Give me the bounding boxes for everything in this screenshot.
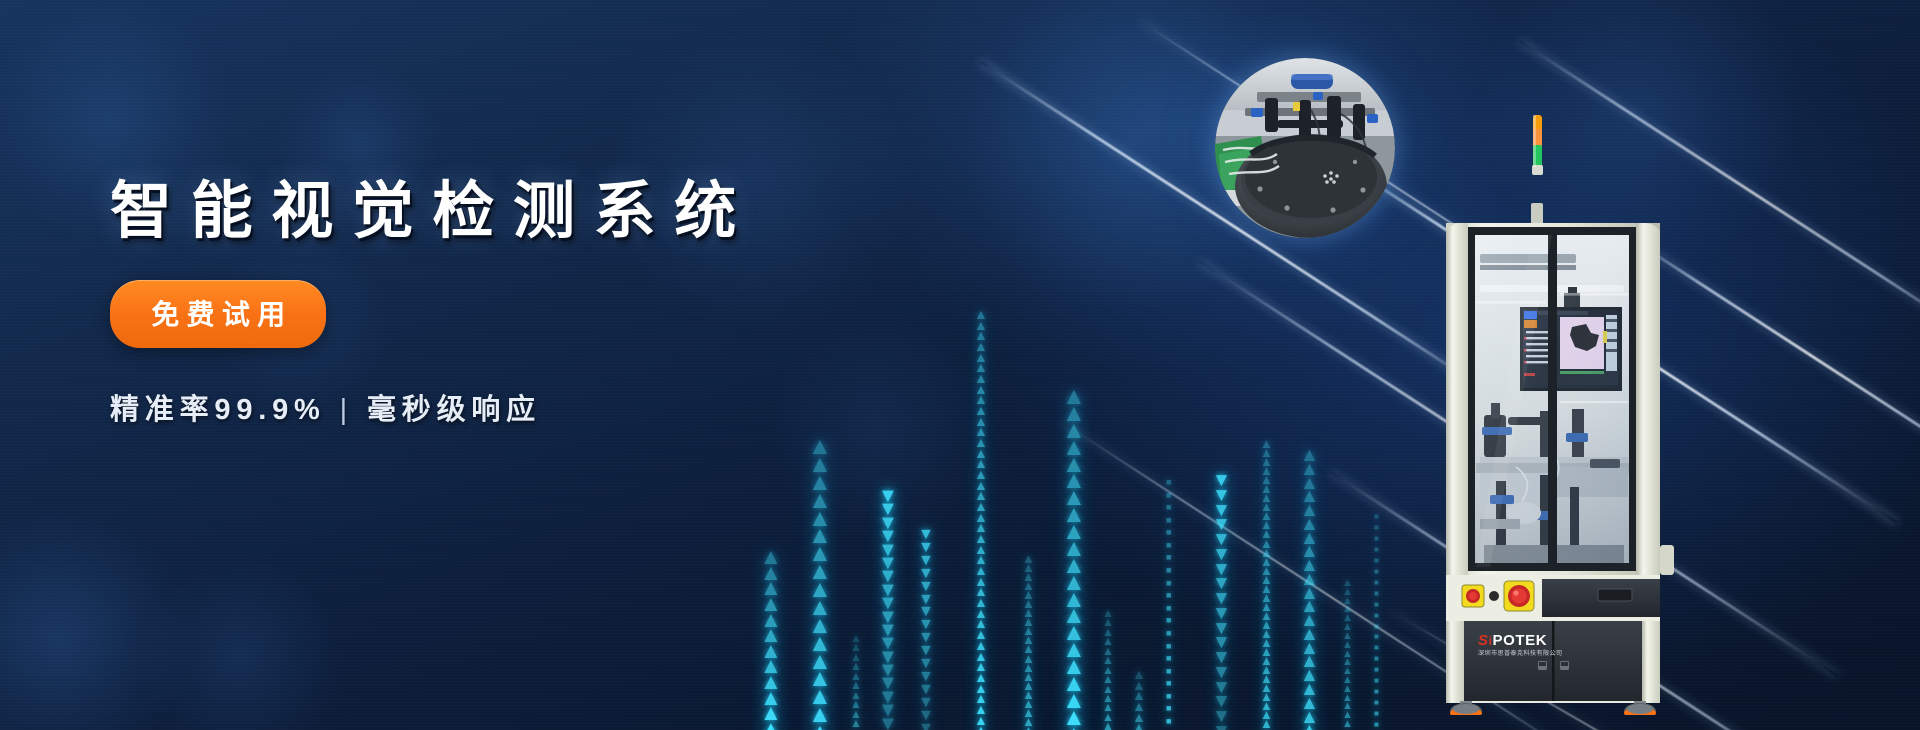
arrow-particle: ▲ (974, 545, 988, 554)
arrow-particle: ▲ (850, 682, 862, 689)
arrow-particle: ▲ (974, 513, 988, 522)
arrow-particle: ▲ (1300, 505, 1319, 517)
arrow-particle: ▼ (918, 685, 934, 695)
arrow-particle: ▼ (878, 557, 898, 569)
arrow-particle: ▼ (878, 704, 898, 716)
arrow-particle: ▲ (1022, 718, 1035, 726)
arrow-particle: ▼ (1212, 534, 1231, 546)
arrow-particle: ▲ (1342, 580, 1353, 587)
arrow-particle: ▲ (1102, 676, 1114, 683)
arrow-particle: ■ (1374, 701, 1379, 706)
arrow-particle: ▲ (1342, 633, 1353, 640)
arrow-particle: ▲ (974, 673, 988, 682)
arrow-particle: ■ (1374, 603, 1379, 608)
arrow-particle: ▲ (1260, 530, 1273, 538)
arrow-particle: ▼ (878, 677, 898, 689)
arrow-particle: ▲ (1022, 664, 1035, 672)
arrow-particle: ▲ (1342, 606, 1353, 613)
arrow-particle: ▼ (1212, 505, 1231, 517)
arrow-particle: ▲ (808, 690, 832, 705)
arrow-particle: ▲ (1022, 591, 1035, 599)
arrow-particle: ▲ (850, 673, 862, 680)
arrow-particle: ▼ (1212, 637, 1231, 649)
arrow-particle: ▲ (1260, 540, 1273, 548)
arrow-particle: ▼ (878, 570, 898, 582)
arrow-particle: ▲ (1342, 642, 1353, 649)
tagline-accuracy: 精准率99.9% (110, 394, 326, 426)
arrow-particle: ▲ (974, 641, 988, 650)
arrow-particle: ▼ (878, 651, 898, 663)
arrow-particle: ▲ (1022, 655, 1035, 663)
arrow-particle: ■ (1166, 518, 1171, 524)
arrow-particle: ▲ (760, 722, 782, 730)
arrow-particle: ▼ (1212, 593, 1231, 605)
arrow-particle: ▼ (878, 691, 898, 703)
arrow-particle: ▲ (1300, 574, 1319, 586)
arrow-particle: ▲ (850, 692, 862, 699)
arrow-particle: ▼ (918, 582, 934, 592)
arrow-particle: ▲ (1260, 476, 1273, 484)
arrow-particle: ▲ (1022, 618, 1035, 626)
arrow-particle: ■ (1166, 493, 1171, 499)
arrow-particle: ■ (1166, 719, 1171, 725)
arrow-column: ▲▲▲▲▲▲▲▲▲▲▲▲▲ (1102, 610, 1114, 730)
arrow-particle: ■ (1374, 723, 1379, 728)
arrow-particle: ▲ (1022, 564, 1035, 572)
arrow-particle: ■ (1374, 515, 1379, 520)
arrow-particle: ▲ (1342, 668, 1353, 675)
arrow-particle: ▲ (974, 449, 988, 458)
arrow-particle: ▼ (1212, 490, 1231, 502)
arrow-particle: ▲ (1102, 629, 1114, 636)
arrow-particle: ■ (1374, 668, 1379, 673)
arrow-particle: ▲ (1260, 594, 1273, 602)
arrow-particle: ▲ (1300, 464, 1319, 476)
arrow-particle: ▲ (1260, 657, 1273, 665)
arrow-particle: ▲ (1022, 573, 1035, 581)
arrow-particle: ▼ (878, 503, 898, 515)
arrow-particle: ▲ (1300, 491, 1319, 503)
arrow-particle: ■ (1166, 543, 1171, 549)
arrow-particle: ▲ (1260, 702, 1273, 710)
arrow-particle: ▲ (808, 672, 832, 687)
arrow-particle: ▼ (878, 584, 898, 596)
arrow-particle: ▲ (1022, 700, 1035, 708)
arrow-particle: ▲ (808, 619, 832, 634)
arrow-particle: ▲ (808, 512, 832, 527)
arrow-particle: ▲ (1260, 585, 1273, 593)
arrow-particle: ▼ (918, 543, 934, 553)
arrow-particle: ▲ (1260, 567, 1273, 575)
arrow-particle: ▲ (1260, 449, 1273, 457)
arrow-particle: ▲ (1062, 458, 1086, 473)
arrow-particle: ■ (1374, 548, 1379, 553)
arrow-particle: ▲ (1300, 533, 1319, 545)
arrow-particle: ▲ (974, 502, 988, 511)
arrow-particle: ▼ (878, 517, 898, 529)
arrow-particle: ▼ (1212, 608, 1231, 620)
arrow-particle: ▲ (1102, 686, 1114, 693)
arrow-particle: ▲ (1342, 624, 1353, 631)
arrow-particle: ▼ (1212, 667, 1231, 679)
arrow-particle: ▼ (918, 530, 934, 540)
arrow-particle: ▲ (1260, 693, 1273, 701)
arrow-particle: ▲ (1300, 725, 1319, 730)
arrow-particle: ▲ (1062, 491, 1086, 506)
page-title: 智能视觉检测系统 (110, 175, 1010, 248)
arrow-column: ▲▲▲▲▲▲▲▲▲▲▲▲▲▲▲▲▲ (1342, 580, 1353, 730)
arrow-particle: ■ (1374, 526, 1379, 531)
arrow-particle: ▲ (974, 534, 988, 543)
arrow-column: ▲▲▲▲▲▲▲▲▲▲▲▲▲▲▲▲▲▲▲▲ (1022, 555, 1035, 730)
arrow-particle: ▲ (1102, 638, 1114, 645)
arrow-particle: ▼ (1212, 652, 1231, 664)
arrow-particle: ▲ (1260, 630, 1273, 638)
arrow-particle: ▲ (1102, 714, 1114, 721)
arrow-particle: ▲ (974, 555, 988, 564)
arrow-particle: ▲ (808, 565, 832, 580)
arrow-particle: ▲ (1022, 555, 1035, 563)
arrow-particle: ▼ (1212, 711, 1231, 723)
arrow-particle: ▲ (808, 476, 832, 491)
arrow-particle: ▲ (1062, 407, 1086, 422)
arrow-particle: ▼ (918, 607, 934, 617)
arrow-particle: ▲ (1022, 673, 1035, 681)
arrow-particle: ■ (1166, 530, 1171, 536)
rotary-feeder-inset-photo (1215, 58, 1395, 238)
arrow-particle: ▲ (1022, 645, 1035, 653)
arrow-particle: ▼ (918, 595, 934, 605)
arrow-particle: ▲ (808, 708, 832, 723)
arrow-particle: ▲ (760, 706, 782, 720)
arrow-particle: ▼ (1212, 682, 1231, 694)
arrow-particle: ▲ (1022, 709, 1035, 717)
arrow-column: ▲▲▲▲▲▲▲▲▲▲ (850, 635, 862, 730)
arrow-particle: ▲ (974, 577, 988, 586)
arrow-column: ▲▲▲▲▲▲▲▲▲▲▲▲▲▲▲▲▲▲▲▲▲▲▲▲▲▲▲▲▲▲▲▲▲ (1260, 440, 1273, 730)
arrow-particle: ▲ (1102, 667, 1114, 674)
arrow-particle: ▲ (1342, 659, 1353, 666)
arrow-particle: ▲ (1102, 657, 1114, 664)
arrow-particle: ▲ (1260, 639, 1273, 647)
arrow-particle: ▲ (1102, 619, 1114, 626)
arrow-particle: ▲ (760, 675, 782, 689)
arrow-particle: ▼ (1212, 564, 1231, 576)
arrow-particle: ■ (1374, 712, 1379, 717)
arrow-particle: ▲ (1022, 600, 1035, 608)
arrow-particle: ■ (1166, 555, 1171, 561)
arrow-particle: ▲ (1260, 512, 1273, 520)
arrow-particle: ■ (1166, 681, 1171, 687)
arrow-column: ▲▲▲▲▲▲▲▲▲▲▲▲▲▲▲▲▲▲▲▲▲ (1062, 390, 1086, 730)
tower-lamp (1531, 115, 1543, 225)
arrow-particle: ▲ (1062, 626, 1086, 641)
arrow-particle: ▲ (974, 609, 988, 618)
arrow-particle: ▲ (760, 644, 782, 658)
arrow-particle: ▲ (1300, 615, 1319, 627)
arrow-column: ▼▼▼▼▼▼▼▼▼▼▼▼▼▼▼▼▼▼ (1212, 475, 1231, 730)
arrow-particle: ▼ (918, 672, 934, 682)
arrow-particle: ▲ (808, 440, 832, 455)
arrow-particle: ▲ (1260, 720, 1273, 728)
arrow-particle: ▼ (918, 556, 934, 566)
arrow-particle: ▲ (974, 694, 988, 703)
arrow-particle: ▲ (850, 701, 862, 708)
bokeh-glow (140, 560, 340, 730)
arrow-particle: ▲ (1300, 478, 1319, 490)
arrow-particle: ■ (1166, 618, 1171, 624)
casters (1450, 701, 1656, 715)
arrow-particle: ▲ (974, 716, 988, 725)
hero-copy-block: 智能视觉检测系统 免费试用 精准率99.9%|毫秒级响应 (110, 175, 1010, 428)
arrow-particle: ▲ (974, 459, 988, 468)
tagline: 精准率99.9%|毫秒级响应 (110, 386, 1010, 428)
arrow-particle: ▲ (1260, 684, 1273, 692)
arrow-particle: ▼ (918, 698, 934, 708)
arrow-particle: ▲ (1342, 695, 1353, 702)
arrow-particle: ▲ (1022, 627, 1035, 635)
arrow-particle: ▲ (850, 644, 862, 651)
arrow-particle: ▲ (974, 481, 988, 490)
arrow-particle: ▲ (1260, 621, 1273, 629)
arrow-particle: ▲ (1132, 713, 1146, 722)
arrow-particle: ▲ (808, 583, 832, 598)
arrow-particle: ▼ (878, 530, 898, 542)
arrow-particle: ▲ (1342, 721, 1353, 728)
arrow-particle: ■ (1166, 669, 1171, 675)
arrow-particle: ▲ (1342, 651, 1353, 658)
arrow-particle: ▲ (1022, 609, 1035, 617)
arrow-particle: ▲ (1102, 648, 1114, 655)
arrow-particle: ■ (1374, 690, 1379, 695)
arrow-particle: ■ (1166, 631, 1171, 637)
arrow-particle: ▲ (850, 635, 862, 642)
svg-text:SiPOTEK: SiPOTEK (1478, 632, 1547, 649)
inset-illustration (1215, 58, 1395, 238)
arrow-particle: ▲ (1260, 503, 1273, 511)
arrow-particle: ▲ (760, 691, 782, 705)
arrow-particle: ▲ (850, 720, 862, 727)
arrow-particle: ▲ (1260, 666, 1273, 674)
arrow-column: ▲▲▲▲▲▲▲▲▲▲▲▲▲▲▲▲▲ (808, 440, 832, 730)
arrow-particle: ▲ (1300, 546, 1319, 558)
arrow-particle: ■ (1166, 694, 1171, 700)
arrow-particle: ■ (1166, 480, 1171, 486)
arrow-particle: ■ (1166, 606, 1171, 612)
arrow-particle: ■ (1374, 657, 1379, 662)
arrow-column: ▼▼▼▼▼▼▼▼▼▼▼▼▼▼▼▼▼▼ (878, 490, 898, 730)
arrow-particle: ■ (1374, 559, 1379, 564)
arrow-particle: ▲ (760, 628, 782, 642)
arrow-particle: ▼ (1212, 623, 1231, 635)
arrow-particle: ▲ (1260, 576, 1273, 584)
arrow-particle: ▲ (760, 581, 782, 595)
arrow-particle: ■ (1374, 592, 1379, 597)
arrow-column: ▲▲▲▲▲▲▲▲▲▲▲▲ (760, 550, 782, 730)
arrow-particle: ▲ (1062, 525, 1086, 540)
arrow-particle: ▼ (878, 664, 898, 676)
arrow-particle: ▲ (974, 619, 988, 628)
arrow-particle: ▲ (1300, 519, 1319, 531)
control-panel (1446, 575, 1660, 623)
bokeh-glow (0, 510, 190, 730)
arrow-particle: ▲ (1062, 424, 1086, 439)
arrow-particle: ▼ (918, 724, 934, 730)
arrow-particle: ■ (1374, 625, 1379, 630)
arrow-particle: ▲ (808, 529, 832, 544)
arrow-particle: ■ (1374, 635, 1379, 640)
arrow-particle: ▼ (1212, 696, 1231, 708)
arrow-particle: ▲ (974, 427, 988, 436)
arrow-particle: ▼ (1212, 519, 1231, 531)
arrow-particle: ▲ (808, 601, 832, 616)
arrow-particle: ▲ (974, 630, 988, 639)
arrow-particle: ▲ (1260, 675, 1273, 683)
machine-svg: SiPOTEK 深圳市思普泰克科技有限公司 (1420, 115, 1685, 715)
arrow-column: ▲▲▲▲▲▲▲▲▲▲▲▲▲▲▲▲▲▲▲▲▲ (1300, 450, 1319, 730)
arrow-particle: ▲ (808, 637, 832, 652)
arrow-particle: ▲ (974, 587, 988, 596)
arrow-particle: ▲ (1102, 704, 1114, 711)
arrow-particle: ▲ (974, 705, 988, 714)
arrow-particle: ▼ (878, 624, 898, 636)
inspection-machine-illustration: SiPOTEK 深圳市思普泰克科技有限公司 (1420, 115, 1685, 715)
arrow-particle: ▲ (1342, 686, 1353, 693)
arrow-particle: ▲ (1062, 643, 1086, 658)
tagline-separator: | (326, 394, 367, 426)
arrow-particle: ▲ (760, 597, 782, 611)
arrow-particle: ▲ (1342, 598, 1353, 605)
arrow-particle: ▼ (878, 490, 898, 502)
arrow-particle: ▲ (1300, 643, 1319, 655)
arrow-particle: ▲ (1022, 636, 1035, 644)
arrow-particle: ■ (1374, 570, 1379, 575)
arrow-particle: ▲ (1342, 589, 1353, 596)
arrow-particle: ▲ (1132, 723, 1146, 730)
arrow-particle: ▲ (1102, 610, 1114, 617)
arrow-particle: ▲ (1260, 521, 1273, 529)
arrow-particle: ▲ (1062, 593, 1086, 608)
arrow-particle: ▼ (1212, 578, 1231, 590)
arrow-particle: ▲ (974, 598, 988, 607)
arrow-particle: ▲ (974, 652, 988, 661)
arrow-particle: ▼ (1212, 475, 1231, 487)
arrow-particle: ▲ (1260, 558, 1273, 566)
arrow-particle: ▲ (974, 491, 988, 500)
arrow-particle: ▼ (918, 633, 934, 643)
arrow-particle: ▲ (1022, 582, 1035, 590)
arrow-particle: ■ (1374, 581, 1379, 586)
arrow-particle: ■ (1166, 505, 1171, 511)
arrow-particle: ▲ (1300, 698, 1319, 710)
arrow-particle: ▲ (1300, 670, 1319, 682)
arrow-particle: ▼ (878, 718, 898, 730)
arrow-particle: ▲ (1132, 702, 1146, 711)
arrow-particle: ▲ (1102, 695, 1114, 702)
arrow-column: ▼▼▼▼▼▼▼▼▼▼▼▼▼▼▼▼ (918, 530, 934, 730)
arrow-particle: ▼ (1212, 549, 1231, 561)
arrow-particle: ▼ (1212, 726, 1231, 730)
arrow-particle: ▲ (1300, 560, 1319, 572)
arrow-column: ■■■■■■■■■■■■■■■■■■■■ (1374, 515, 1379, 730)
arrow-particle: ▲ (1062, 711, 1086, 726)
arrow-particle: ■ (1166, 581, 1171, 587)
arrow-particle: ▲ (808, 726, 832, 730)
arrow-particle: ▲ (850, 663, 862, 670)
arrow-particle: ▲ (760, 613, 782, 627)
arrow-particle: ▲ (1062, 508, 1086, 523)
arrow-particle: ▲ (1342, 712, 1353, 719)
arrow-particle: ▲ (760, 550, 782, 564)
arrow-particle: ▼ (918, 711, 934, 721)
arrow-particle: ▲ (1062, 677, 1086, 692)
free-trial-button[interactable]: 免费试用 (110, 280, 326, 348)
arrow-particle: ▲ (808, 458, 832, 473)
arrow-particle: ▲ (1260, 549, 1273, 557)
arrow-column: ▲▲▲▲▲▲ (1132, 670, 1146, 730)
arrow-particle: ▼ (918, 646, 934, 656)
arrow-particle: ▲ (808, 494, 832, 509)
arrow-particle: ▲ (1260, 612, 1273, 620)
arrow-particle: ▲ (808, 547, 832, 562)
arrow-particle: ▲ (1300, 684, 1319, 696)
arrow-particle: ▲ (1300, 601, 1319, 613)
arrow-particle: ▲ (1062, 660, 1086, 675)
arrow-particle: ▲ (1342, 615, 1353, 622)
arrow-particle: ▲ (1062, 559, 1086, 574)
arrow-particle: ▲ (1132, 681, 1146, 690)
arrow-particle: ▲ (760, 659, 782, 673)
arrow-particle: ▲ (1062, 576, 1086, 591)
arrow-particle: ▼ (918, 659, 934, 669)
arrow-particle: ▲ (1260, 467, 1273, 475)
arrow-particle: ▼ (878, 637, 898, 649)
arrow-particle: ▼ (918, 569, 934, 579)
arrow-particle: ■ (1166, 656, 1171, 662)
arrow-particle: ▲ (808, 655, 832, 670)
arrow-particle: ▲ (974, 566, 988, 575)
arrow-particle: ▲ (1260, 440, 1273, 448)
arrow-particle: ▲ (1062, 441, 1086, 456)
arrow-particle: ▲ (850, 711, 862, 718)
arrow-particle: ■ (1166, 644, 1171, 650)
arrow-particle: ▲ (974, 726, 988, 730)
tagline-response: 毫秒级响应 (367, 394, 541, 426)
arrow-particle: ▲ (1260, 485, 1273, 493)
arrow-particle: ■ (1374, 614, 1379, 619)
arrow-particle: ▲ (1300, 656, 1319, 668)
arrow-particle: ▲ (1022, 682, 1035, 690)
arrow-particle: ▲ (1102, 723, 1114, 730)
arrow-particle: ▲ (974, 470, 988, 479)
arrow-particle: ■ (1166, 568, 1171, 574)
arrow-particle: ▲ (760, 566, 782, 580)
arrow-particle: ▲ (1342, 677, 1353, 684)
arrow-particle: ▲ (1022, 691, 1035, 699)
arrow-particle: ■ (1374, 646, 1379, 651)
arrow-particle: ▲ (1260, 648, 1273, 656)
arrow-particle: ▲ (850, 654, 862, 661)
arrow-particle: ■ (1374, 537, 1379, 542)
arrow-particle: ■ (1374, 679, 1379, 684)
arrow-particle: ▲ (974, 684, 988, 693)
arrow-particle: ■ (1166, 593, 1171, 599)
arrow-particle: ▲ (1260, 603, 1273, 611)
arrow-particle: ▲ (1062, 609, 1086, 624)
arrow-particle: ▲ (1300, 450, 1319, 462)
arrow-particle: ▲ (974, 438, 988, 447)
arrow-particle: ▲ (1300, 588, 1319, 600)
